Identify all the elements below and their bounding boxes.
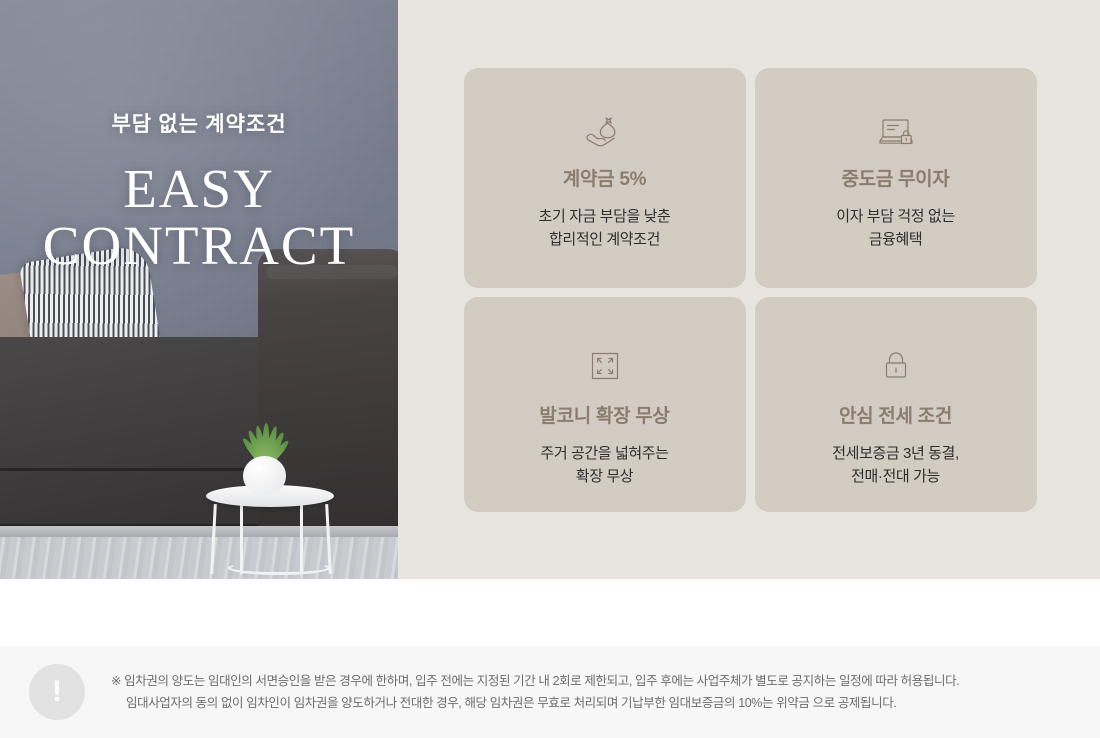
benefits-panel: 계약금 5% 초기 자금 부담을 낮춘 합리적인 계약조건 — [398, 0, 1100, 579]
benefit-card-grid: 계약금 5% 초기 자금 부담을 낮춘 합리적인 계약조건 — [464, 68, 1037, 512]
benefit-desc-line-2: 합리적인 계약조건 — [549, 231, 660, 248]
benefit-desc-line-1: 주거 공간을 넓혀주는 — [540, 445, 668, 462]
benefit-card-description: 초기 자금 부담을 낮춘 합리적인 계약조건 — [539, 205, 671, 251]
benefit-desc-line-1: 이자 부담 걱정 없는 — [836, 208, 955, 225]
benefit-card-description: 이자 부담 걱정 없는 금융혜택 — [836, 205, 955, 251]
benefit-card-title: 안심 전세 조건 — [839, 401, 952, 428]
benefit-card-title: 발코니 확장 무상 — [539, 401, 669, 428]
notice-line-2: 임대사업자의 동의 없이 임차인이 임차권을 양도하거나 전대한 경우, 해당 … — [111, 692, 959, 714]
hero-title-line-1: EASY — [123, 158, 275, 219]
benefit-card-contract-deposit[interactable]: 계약금 5% 초기 자금 부담을 낮춘 합리적인 계약조건 — [464, 68, 746, 288]
hero-title-line-2: CONTRACT — [43, 215, 355, 276]
benefit-card-description: 전세보증금 3년 동결, 전매·전대 가능 — [832, 442, 958, 488]
benefit-desc-line-2: 전매·전대 가능 — [851, 468, 940, 485]
benefit-card-title: 중도금 무이자 — [841, 164, 949, 191]
benefit-card-interest-free[interactable]: 중도금 무이자 이자 부담 걱정 없는 금융혜택 — [755, 68, 1037, 288]
padlock-icon — [873, 345, 919, 387]
benefit-desc-line-2: 금융혜택 — [869, 231, 923, 248]
benefit-card-safe-lease[interactable]: 안심 전세 조건 전세보증금 3년 동결, 전매·전대 가능 — [755, 297, 1037, 512]
benefit-card-balcony-expansion[interactable]: 발코니 확장 무상 주거 공간을 넓혀주는 확장 무상 — [464, 297, 746, 512]
hero-visual-image: 부담 없는 계약조건 EASY CONTRACT — [0, 0, 398, 579]
benefit-desc-line-2: 확장 무상 — [576, 468, 633, 485]
hero-title: EASY CONTRACT — [43, 160, 355, 274]
benefit-desc-line-1: 초기 자금 부담을 낮춘 — [539, 208, 671, 225]
exclamation-icon: ! — [29, 664, 85, 720]
benefit-card-description: 주거 공간을 넓혀주는 확장 무상 — [540, 442, 668, 488]
expand-arrows-icon — [582, 345, 628, 387]
page-root: 부담 없는 계약조건 EASY CONTRACT — [0, 0, 1100, 738]
hero-section: 부담 없는 계약조건 EASY CONTRACT — [0, 0, 1100, 579]
hero-kicker: 부담 없는 계약조건 — [111, 108, 286, 138]
laptop-lock-icon — [873, 112, 919, 154]
exclamation-glyph: ! — [52, 677, 62, 707]
money-bag-hand-icon — [582, 112, 628, 154]
benefit-card-title: 계약금 5% — [563, 164, 646, 191]
hero-headline-block: 부담 없는 계약조건 EASY CONTRACT — [0, 0, 398, 579]
notice-section: ! ※ 임차권의 양도는 임대인의 서면승인을 받은 경우에 한하며, 입주 전… — [0, 646, 1100, 738]
benefit-desc-line-1: 전세보증금 3년 동결, — [832, 445, 958, 462]
notice-line-1: ※ 임차권의 양도는 임대인의 서면승인을 받은 경우에 한하며, 입주 전에는… — [111, 670, 959, 692]
notice-text: ※ 임차권의 양도는 임대인의 서면승인을 받은 경우에 한하며, 입주 전에는… — [111, 670, 959, 714]
